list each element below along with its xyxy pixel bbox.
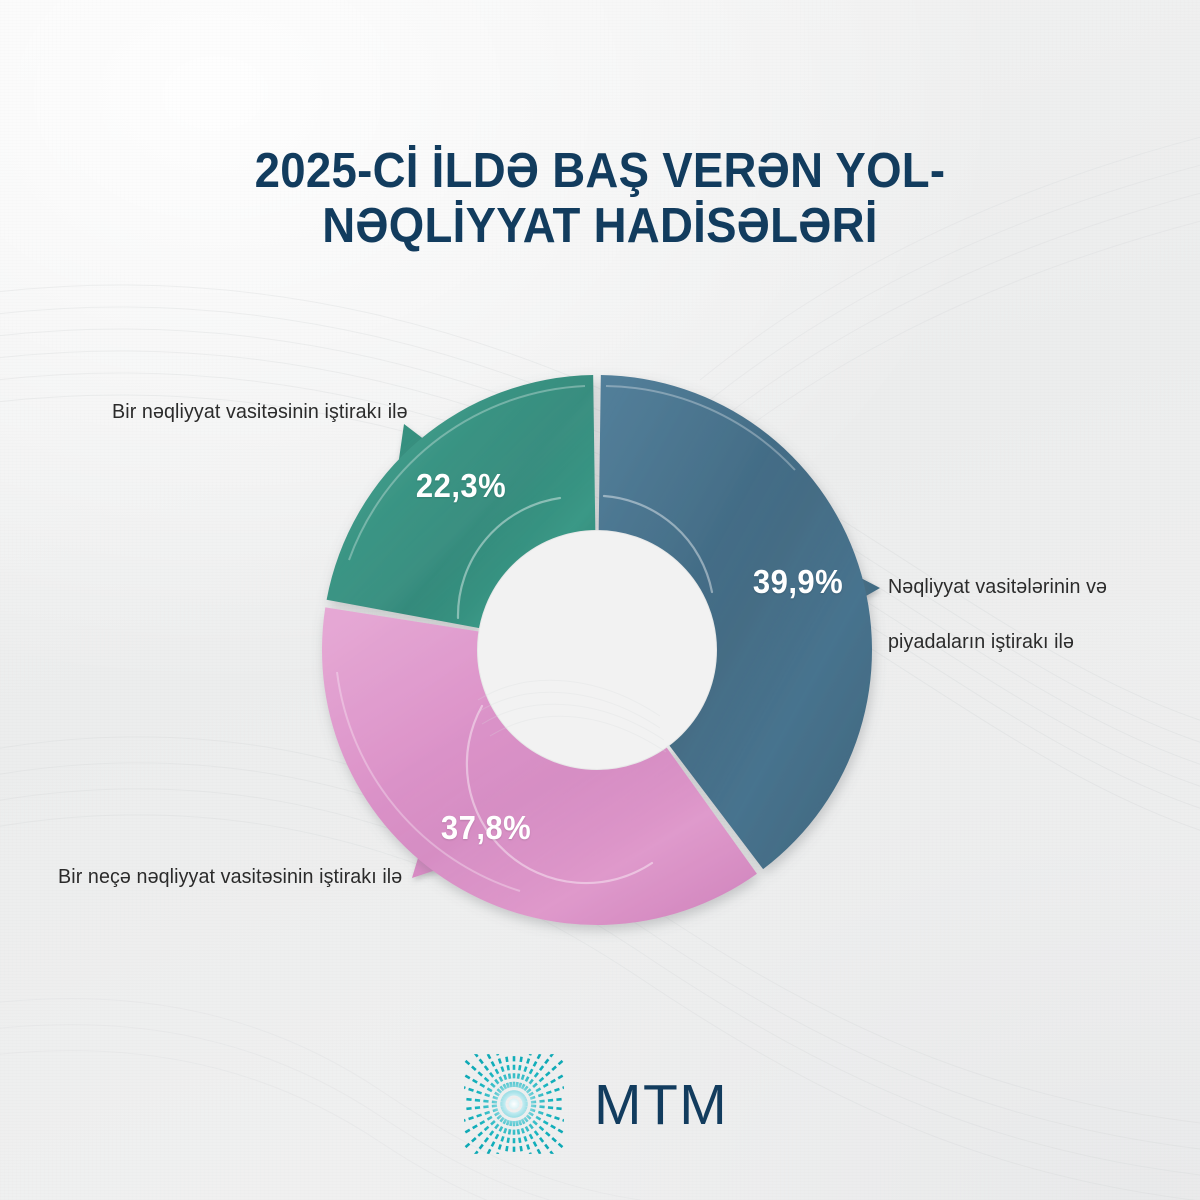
callout-label-blue-line1: Nəqliyyat vasitələrinin və xyxy=(888,573,1128,600)
callout-label-pink: Bir neçə nəqliyyat vasitəsinin iştirakı … xyxy=(58,863,413,890)
slice-label-teal: 22,3% xyxy=(416,467,506,505)
infographic-poster: 2025-Cİ İLDƏ BAŞ VERƏN YOL-NƏQLİYYAT HAD… xyxy=(0,0,1200,1200)
callout-label-blue-line2: piyadaların iştirakı ilə xyxy=(888,628,1128,655)
callout-label-blue: Nəqliyyat vasitələrinin və piyadaların i… xyxy=(888,546,1128,683)
slice-label-blue: 39,9% xyxy=(753,563,843,601)
mtm-logo: MTM xyxy=(462,1048,742,1160)
callout-label-teal: Bir nəqliyyat vasitəsinin iştirakı ilə xyxy=(112,398,429,425)
donut-hole xyxy=(478,531,717,770)
slice-label-pink: 37,8% xyxy=(441,809,531,847)
mtm-wordmark: MTM xyxy=(594,1077,728,1134)
mtm-radiating-burst-icon xyxy=(462,1052,566,1156)
